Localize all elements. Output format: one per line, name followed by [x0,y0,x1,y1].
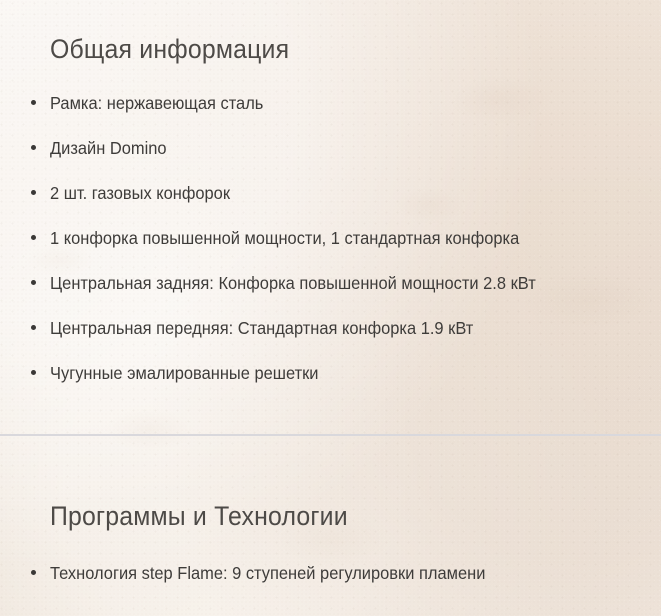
bullet-dot-icon [31,370,36,375]
section-heading-general-info: Общая информация [50,34,289,65]
bullet-dot-icon [31,280,36,285]
list-item-label: Центральная задняя: Конфорка повышенной … [50,272,536,294]
section-heading-programs-technologies: Программы и Технологии [50,501,348,532]
list-item: Рамка: нержавеющая сталь [0,92,567,137]
list-item: Технология step Flame: 9 ступеней регули… [0,562,513,607]
list-item-label: Чугунные эмалированные решетки [50,362,319,384]
bullet-dot-icon [31,235,36,240]
list-item-label: 1 конфорка повышенной мощности, 1 станда… [50,227,519,249]
section-divider [0,434,661,436]
bullet-dot-icon [31,325,36,330]
list-item: 1 конфорка повышенной мощности, 1 станда… [0,227,567,272]
bullet-dot-icon [31,570,36,575]
spec-list-general-info: Рамка: нержавеющая сталь Дизайн Domino 2… [0,92,567,407]
list-item: Чугунные эмалированные решетки [0,362,567,407]
bullet-dot-icon [31,100,36,105]
list-item: Центральная передняя: Стандартная конфор… [0,317,567,362]
list-item-label: 2 шт. газовых конфорок [50,182,230,204]
list-item-label: Дизайн Domino [50,137,167,159]
list-item: Дизайн Domino [0,137,567,182]
spec-list-programs-technologies: Технология step Flame: 9 ступеней регули… [0,562,513,607]
bullet-dot-icon [31,145,36,150]
list-item-label: Технология step Flame: 9 ступеней регули… [50,562,485,584]
list-item-label: Рамка: нержавеющая сталь [50,92,263,114]
list-item-label: Центральная передняя: Стандартная конфор… [50,317,473,339]
bullet-dot-icon [31,190,36,195]
list-item: 2 шт. газовых конфорок [0,182,567,227]
list-item: Центральная задняя: Конфорка повышенной … [0,272,567,317]
